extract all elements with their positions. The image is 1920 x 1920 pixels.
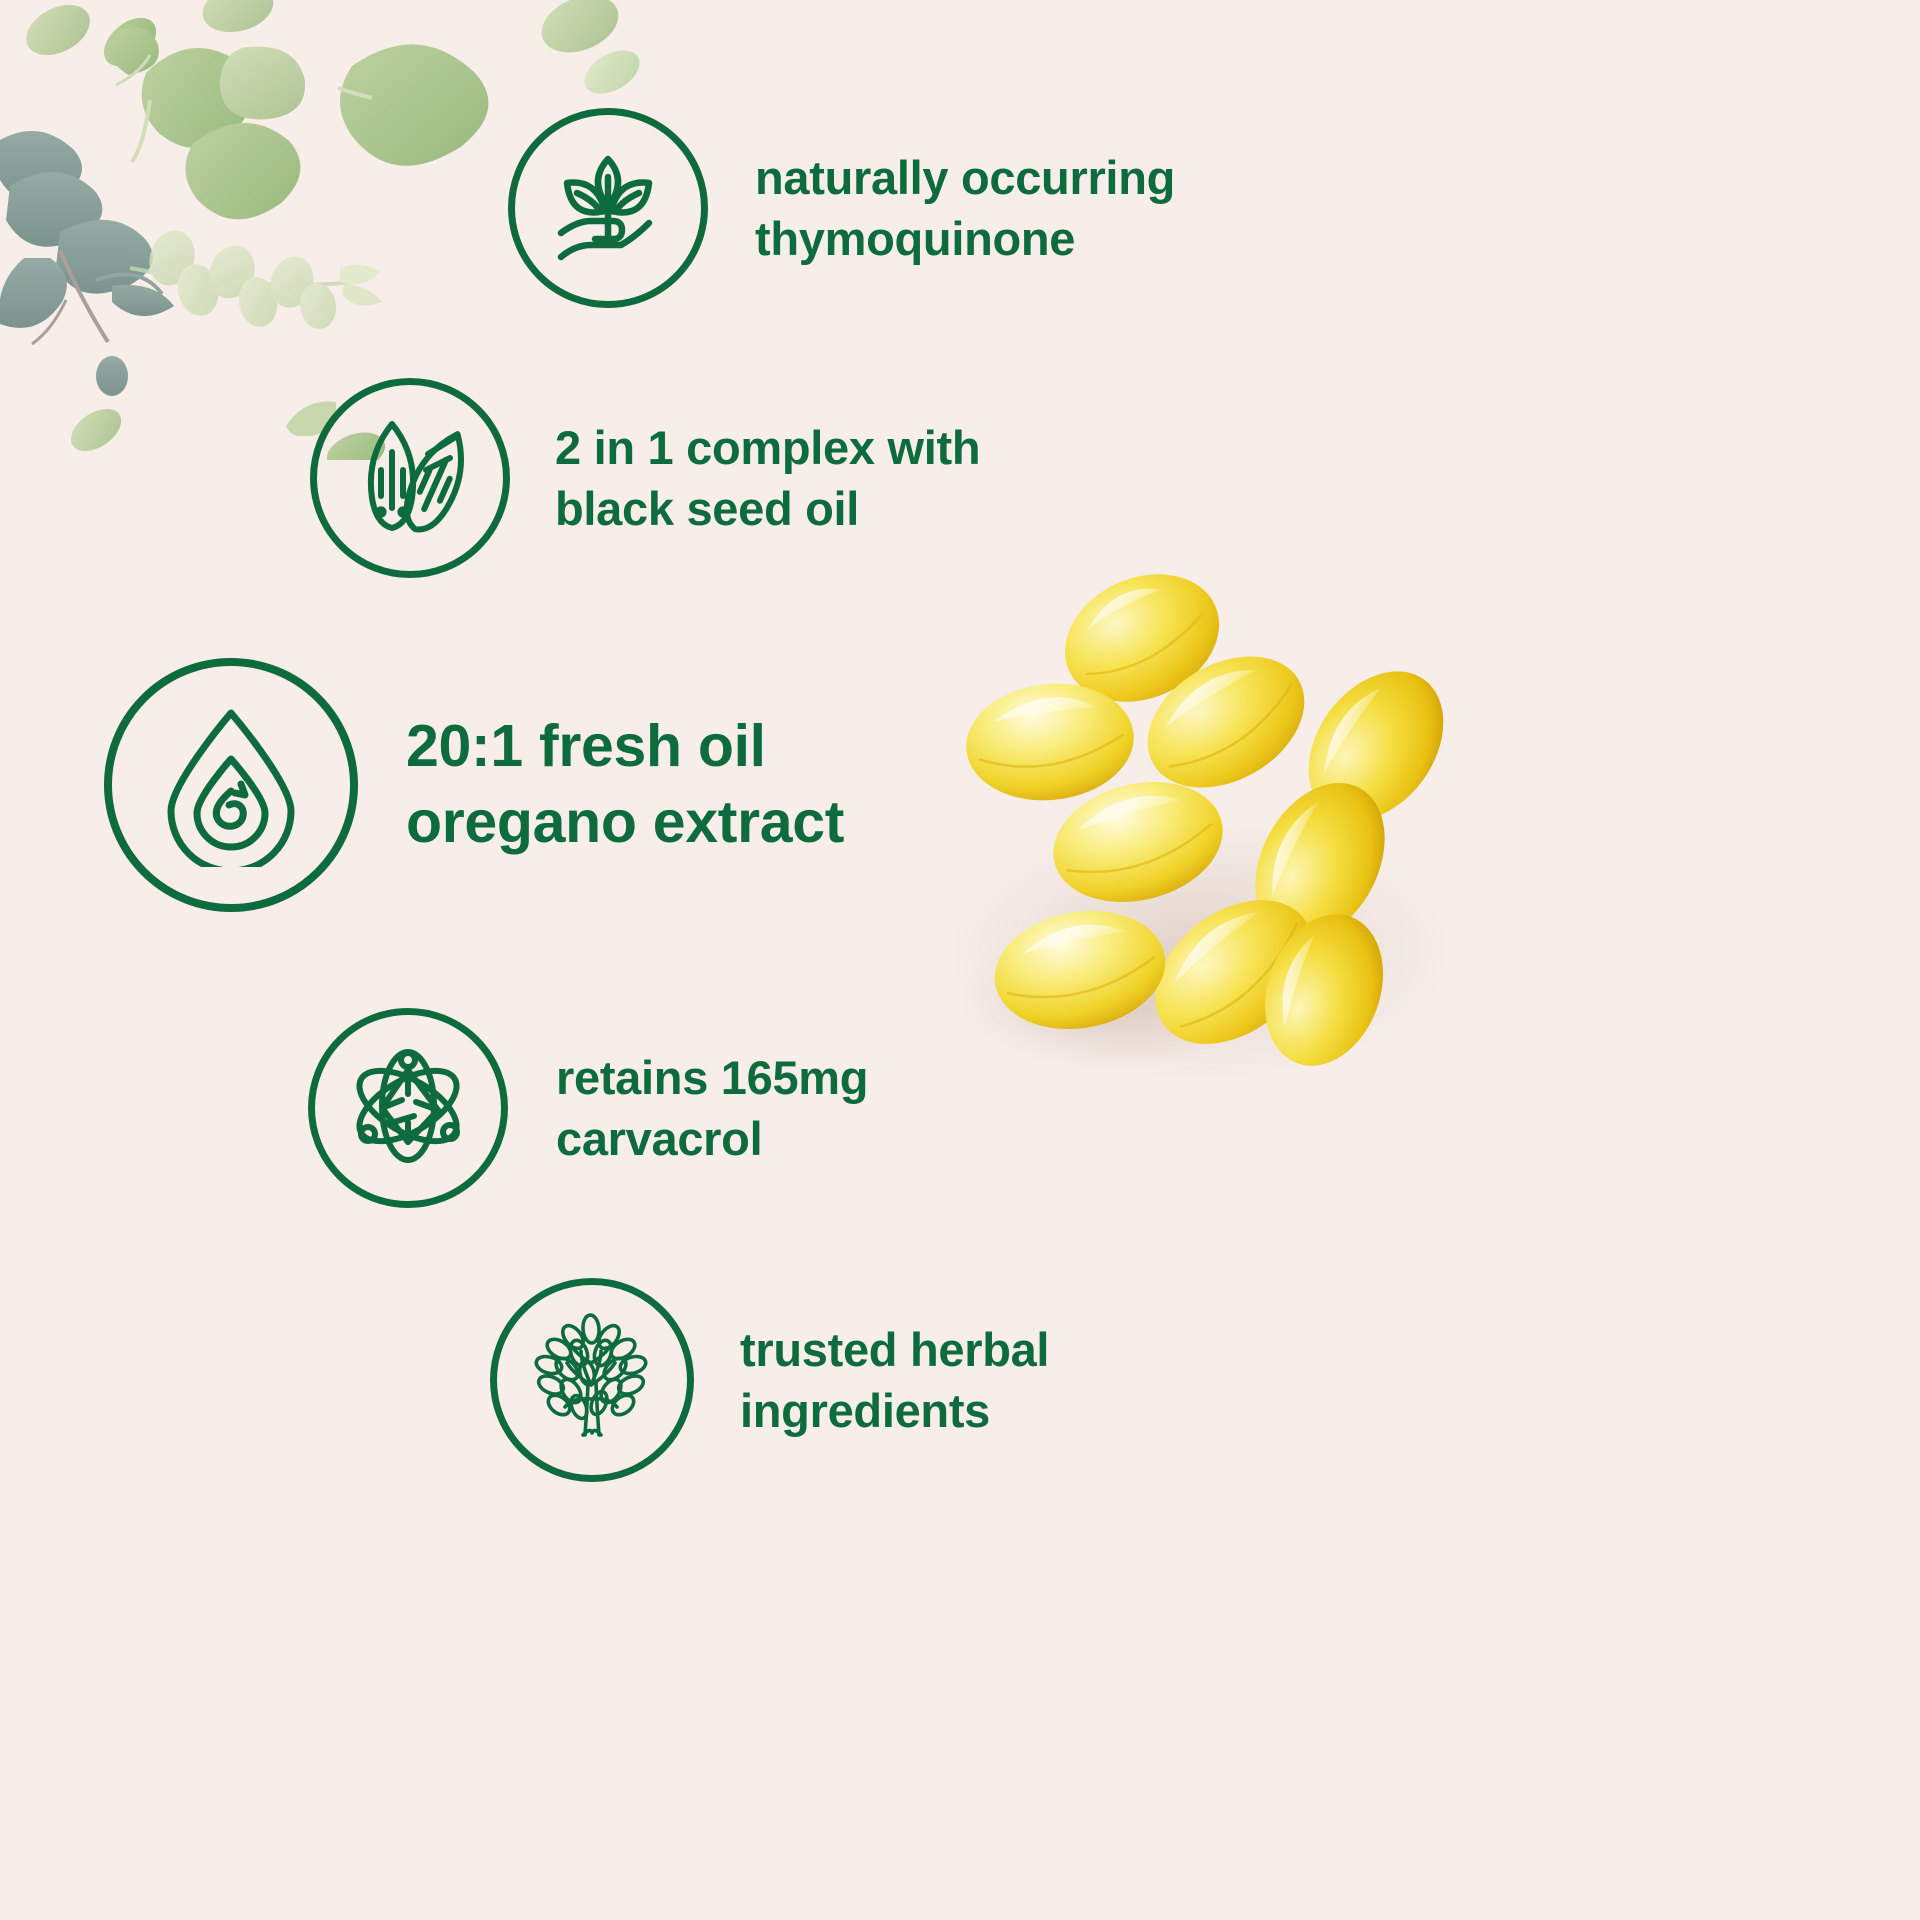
feature-label-5: trusted herbal ingredients <box>740 1319 1049 1441</box>
icon-circle-1 <box>508 108 708 308</box>
atom-icon <box>338 1036 478 1181</box>
feature-row-herbal-ingredients[interactable]: trusted herbal ingredients <box>490 1278 1049 1482</box>
infographic-canvas: naturally occurring thymoquinone <box>0 0 1920 1920</box>
feature-row-thymoquinone[interactable]: naturally occurring thymoquinone <box>508 108 1175 308</box>
black-seeds-icon <box>342 408 478 549</box>
feature-label-1: naturally occurring thymoquinone <box>755 147 1175 269</box>
feature-row-oregano-extract[interactable]: 20:1 fresh oil oregano extract <box>104 658 844 912</box>
feature-label-3: 20:1 fresh oil oregano extract <box>406 709 844 860</box>
plant-in-hand-icon <box>539 137 677 280</box>
icon-circle-4 <box>308 1008 508 1208</box>
feature-row-carvacrol[interactable]: retains 165mg carvacrol <box>308 1008 868 1208</box>
feature-row-black-seed[interactable]: 2 in 1 complex with black seed oil <box>310 378 980 578</box>
icon-circle-2 <box>310 378 510 578</box>
golden-softgel-capsules <box>900 520 1520 1120</box>
oil-drop-icon <box>147 699 315 872</box>
feature-label-4: retains 165mg carvacrol <box>556 1047 868 1169</box>
icon-circle-5 <box>490 1278 694 1482</box>
icon-circle-3 <box>104 658 358 912</box>
tree-icon <box>521 1307 663 1454</box>
